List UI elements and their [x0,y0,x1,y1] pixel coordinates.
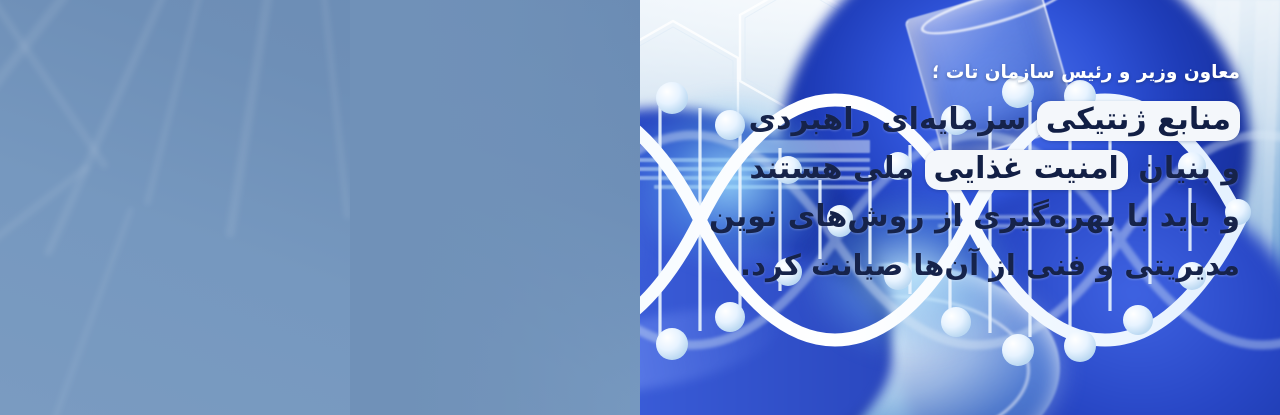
highlight-food-security: امنیت غذایی [925,150,1128,190]
headline-line-2: و بنیان امنیت غذایی ملی هستند [720,145,1240,194]
headline-line-1-post: سرمایه‌ای راهبردی [749,102,1037,137]
kicker-text: معاون وزیر و رئیس سازمان تات ؛ [720,62,1240,84]
headline: منابع ژنتیکی سرمایه‌ای راهبردی و بنیان ا… [720,96,1240,289]
banner-copy: معاون وزیر و رئیس سازمان تات ؛ منابع ژنت… [720,62,1240,289]
panel-photo-blend [350,0,640,415]
news-hero-banner: معاون وزیر و رئیس سازمان تات ؛ منابع ژنت… [0,0,1280,415]
headline-line-1: منابع ژنتیکی سرمایه‌ای راهبردی [720,96,1240,145]
headline-line-4: مدیریتی و فنی از آن‌ها صیانت کرد. [720,242,1240,289]
headline-line-3: و باید با بهره‌گیری از روش‌های نوین [720,193,1240,242]
headline-line-2-post: ملی هستند [749,151,924,186]
headline-line-2-pre: و بنیان [1128,151,1240,186]
highlight-genetic-resources: منابع ژنتیکی [1037,101,1240,141]
